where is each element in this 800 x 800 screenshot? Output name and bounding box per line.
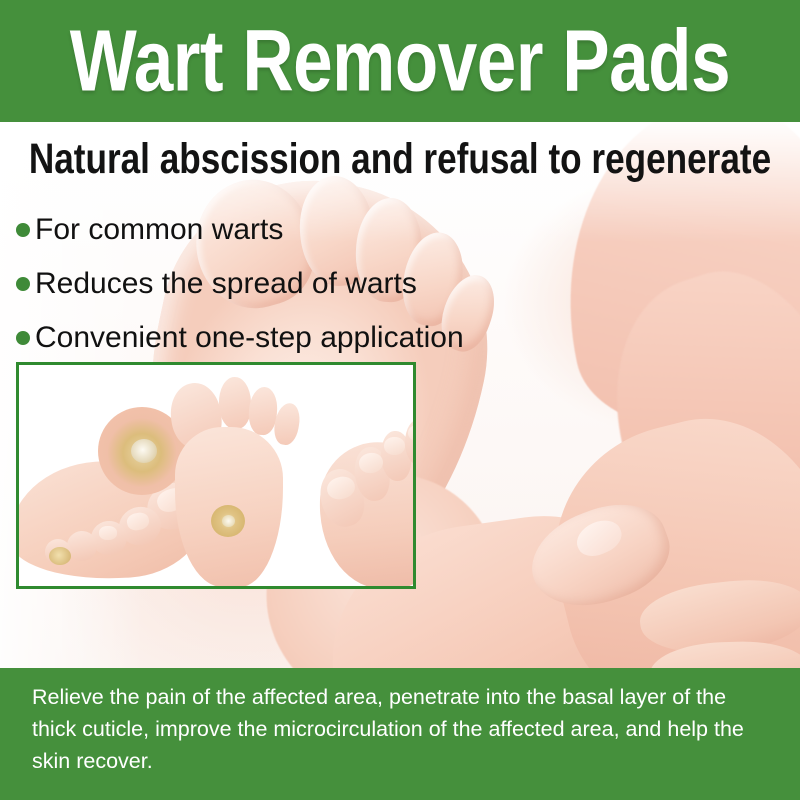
list-item: Convenient one-step application xyxy=(16,314,536,362)
subtitle-text: Natural abscission and refusal to regene… xyxy=(20,137,780,182)
product-poster: Wart Remover Pads Natural abscission and… xyxy=(0,0,800,800)
sole-wart-core xyxy=(222,515,235,527)
page-title: Wart Remover Pads xyxy=(70,17,730,104)
list-item: Reduces the spread of warts xyxy=(16,260,536,308)
feature-list: For common warts Reduces the spread of w… xyxy=(16,206,536,368)
bullet-dot-icon xyxy=(16,331,30,345)
illustration-panel xyxy=(16,362,416,589)
bullet-dot-icon xyxy=(16,277,30,291)
side-toenail-3 xyxy=(99,526,117,540)
wart-closeup-core xyxy=(131,439,157,463)
feature-label: Convenient one-step application xyxy=(35,323,464,353)
feature-label: For common warts xyxy=(35,215,283,245)
footer-description: Relieve the pain of the affected area, p… xyxy=(32,682,768,777)
sole-toe-2 xyxy=(218,376,252,429)
footer-banner: Relieve the pain of the affected area, p… xyxy=(0,668,800,800)
side-view-wart xyxy=(49,547,71,565)
list-item: For common warts xyxy=(16,206,536,254)
top-toenail-3 xyxy=(384,437,405,455)
header-banner: Wart Remover Pads xyxy=(0,0,800,122)
feature-label: Reduces the spread of warts xyxy=(35,269,417,299)
bullet-dot-icon xyxy=(16,223,30,237)
